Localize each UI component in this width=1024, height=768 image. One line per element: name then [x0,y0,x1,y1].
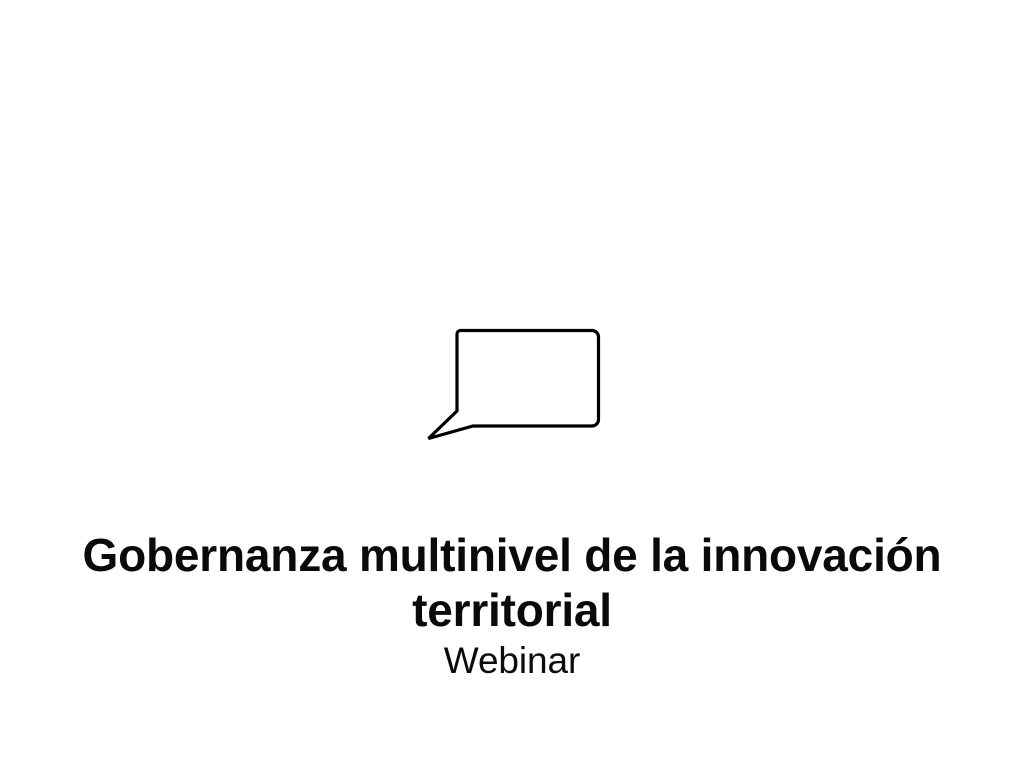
slide-text-block: Gobernanza multinivel de la innovación t… [0,528,1024,684]
title-slide: Gobernanza multinivel de la innovación t… [0,0,1024,768]
page-subtitle: Webinar [0,638,1024,684]
speech-bubble-icon-container [414,318,610,450]
page-title: Gobernanza multinivel de la innovación t… [0,528,1024,638]
speech-bubble-icon [414,318,610,450]
